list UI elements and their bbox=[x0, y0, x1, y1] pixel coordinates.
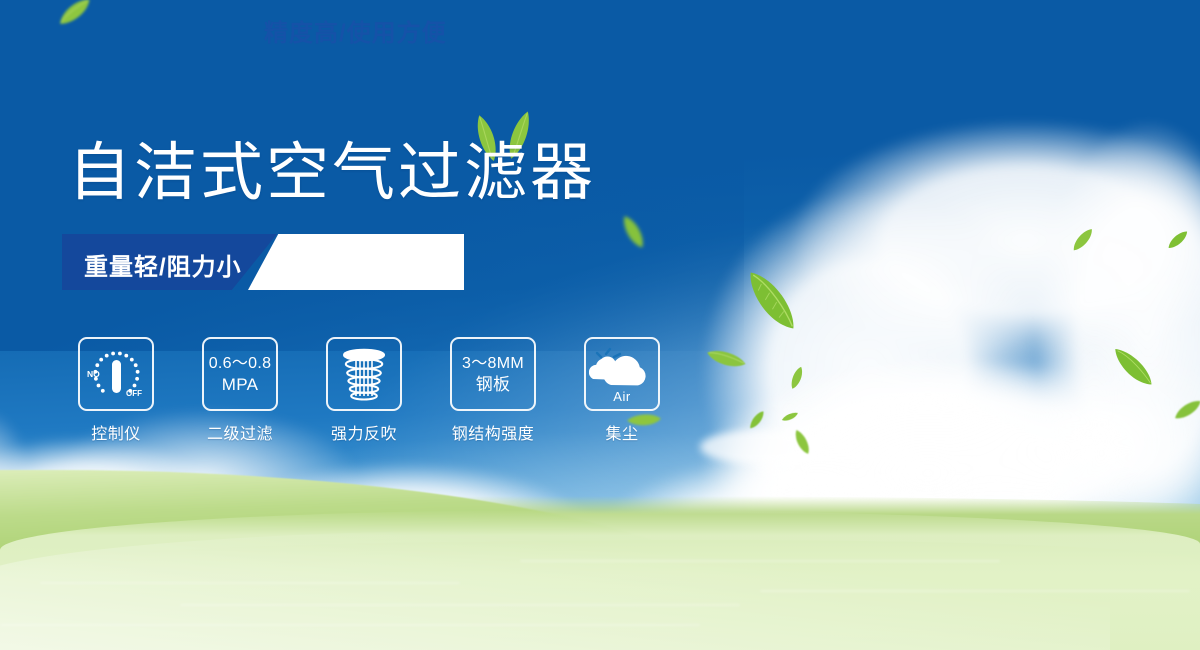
feature-item-controller[interactable]: NO OFF 控制仪 bbox=[68, 337, 164, 444]
feature-item-steel[interactable]: 3～8MM 钢板 钢结构强度 bbox=[440, 337, 546, 444]
feature-item-dust-collection[interactable]: Air 集尘 bbox=[574, 337, 670, 444]
steel-line-2: 钢板 bbox=[476, 374, 511, 395]
steel-plate-text-icon-box: 3～8MM 钢板 bbox=[450, 337, 536, 411]
feature-item-blowback[interactable]: 强力反吹 bbox=[316, 337, 412, 444]
feature-label: 强力反吹 bbox=[331, 420, 397, 444]
dial-off-label: OFF bbox=[126, 389, 142, 398]
subtitle-right-text: 精度高/使用方便 bbox=[264, 13, 447, 48]
subtitle-left-text: 重量轻/阻力小 bbox=[84, 247, 242, 282]
pressure-text-icon-box: 0.6～0.8 MPA bbox=[202, 337, 278, 411]
page-title: 自洁式空气过滤器 bbox=[68, 142, 596, 205]
feature-label: 二级过滤 bbox=[207, 420, 273, 444]
pressure-line-1: 0.6～0.8 bbox=[209, 353, 272, 374]
feature-item-pressure[interactable]: 0.6～0.8 MPA 二级过滤 bbox=[192, 337, 288, 444]
control-dial-icon-box: NO OFF bbox=[78, 337, 154, 411]
filter-cartridge-icon bbox=[339, 346, 389, 402]
air-label: Air bbox=[589, 389, 655, 404]
product-banner: 自洁式空气过滤器 重量轻/阻力小 精度高/使用方便 bbox=[0, 0, 1200, 650]
control-dial-icon: NO OFF bbox=[85, 344, 147, 404]
feature-label: 控制仪 bbox=[91, 420, 141, 444]
air-cloud-icon-box: Air bbox=[584, 337, 660, 411]
feature-list: NO OFF 控制仪 0.6～0.8 MPA 二级过滤 bbox=[68, 337, 670, 444]
filter-cartridge-icon-box bbox=[326, 337, 402, 411]
banner-content: 自洁式空气过滤器 重量轻/阻力小 精度高/使用方便 bbox=[0, 0, 1200, 650]
dial-on-label: NO bbox=[87, 369, 100, 379]
steel-line-1: 3～8MM bbox=[462, 353, 524, 374]
feature-label: 集尘 bbox=[605, 420, 638, 444]
subtitle-right-panel bbox=[248, 234, 464, 290]
pressure-line-2: MPA bbox=[222, 374, 258, 395]
air-cloud-icon: Air bbox=[589, 345, 655, 403]
feature-label: 钢结构强度 bbox=[452, 420, 535, 444]
